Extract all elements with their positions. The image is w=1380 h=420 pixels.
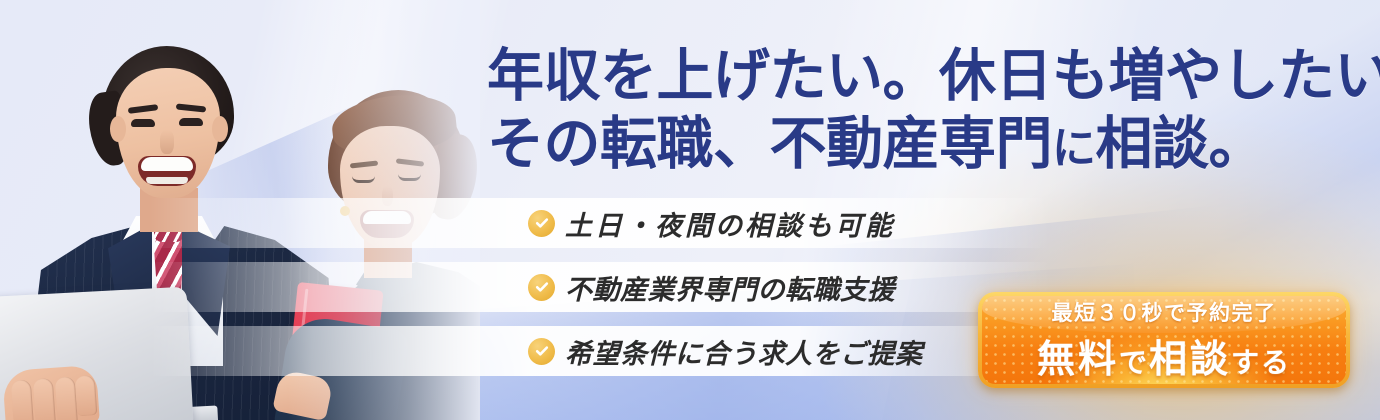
benefit-content-1: 土日・夜間の相談も可能 xyxy=(528,204,895,243)
cta-main-label-part-2: で xyxy=(1119,347,1149,378)
cta-main-label-part-1: 無料 xyxy=(1037,339,1119,381)
free-consultation-cta-button[interactable]: 最短３０秒で予約完了 無料で相談する xyxy=(978,292,1350,388)
benefit-label-2: 不動産業界専門の転職支援 xyxy=(565,268,895,307)
cta-sub-label: 最短３０秒で予約完了 xyxy=(1052,297,1277,327)
benefit-content-2: 不動産業界専門の転職支援 xyxy=(528,268,895,307)
check-circle-icon xyxy=(528,210,555,237)
benefit-item-1: 土日・夜間の相談も可能 xyxy=(0,198,1380,248)
headline-line-2-end: 相談。 xyxy=(1096,112,1266,176)
hero-banner: 年収を上げたい。休日も増やしたい。 その転職、不動産専門に相談。 土日・夜間の相… xyxy=(0,0,1380,420)
cta-inner-surface: 最短３０秒で予約完了 無料で相談する xyxy=(982,296,1346,384)
headline: 年収を上げたい。休日も増やしたい。 その転職、不動産専門に相談。 xyxy=(487,46,1380,175)
cta-main-label-part-3: 相談 xyxy=(1149,339,1231,381)
check-circle-icon xyxy=(528,338,555,365)
headline-line-1: 年収を上げたい。休日も増やしたい。 xyxy=(487,46,1380,108)
headline-line-2: その転職、不動産専門に相談。 xyxy=(487,114,1380,176)
headline-line-2-particle: に xyxy=(1052,124,1096,173)
benefit-label-1: 土日・夜間の相談も可能 xyxy=(565,204,895,243)
cta-main-label-part-4: する xyxy=(1231,347,1291,378)
check-circle-icon xyxy=(528,274,555,301)
headline-line-2-main: その転職、不動産専門 xyxy=(487,112,1052,176)
benefit-label-3: 希望条件に合う求人をご提案 xyxy=(565,332,923,371)
benefit-content-3: 希望条件に合う求人をご提案 xyxy=(528,332,923,371)
cta-main-label: 無料で相談する xyxy=(1037,328,1291,383)
